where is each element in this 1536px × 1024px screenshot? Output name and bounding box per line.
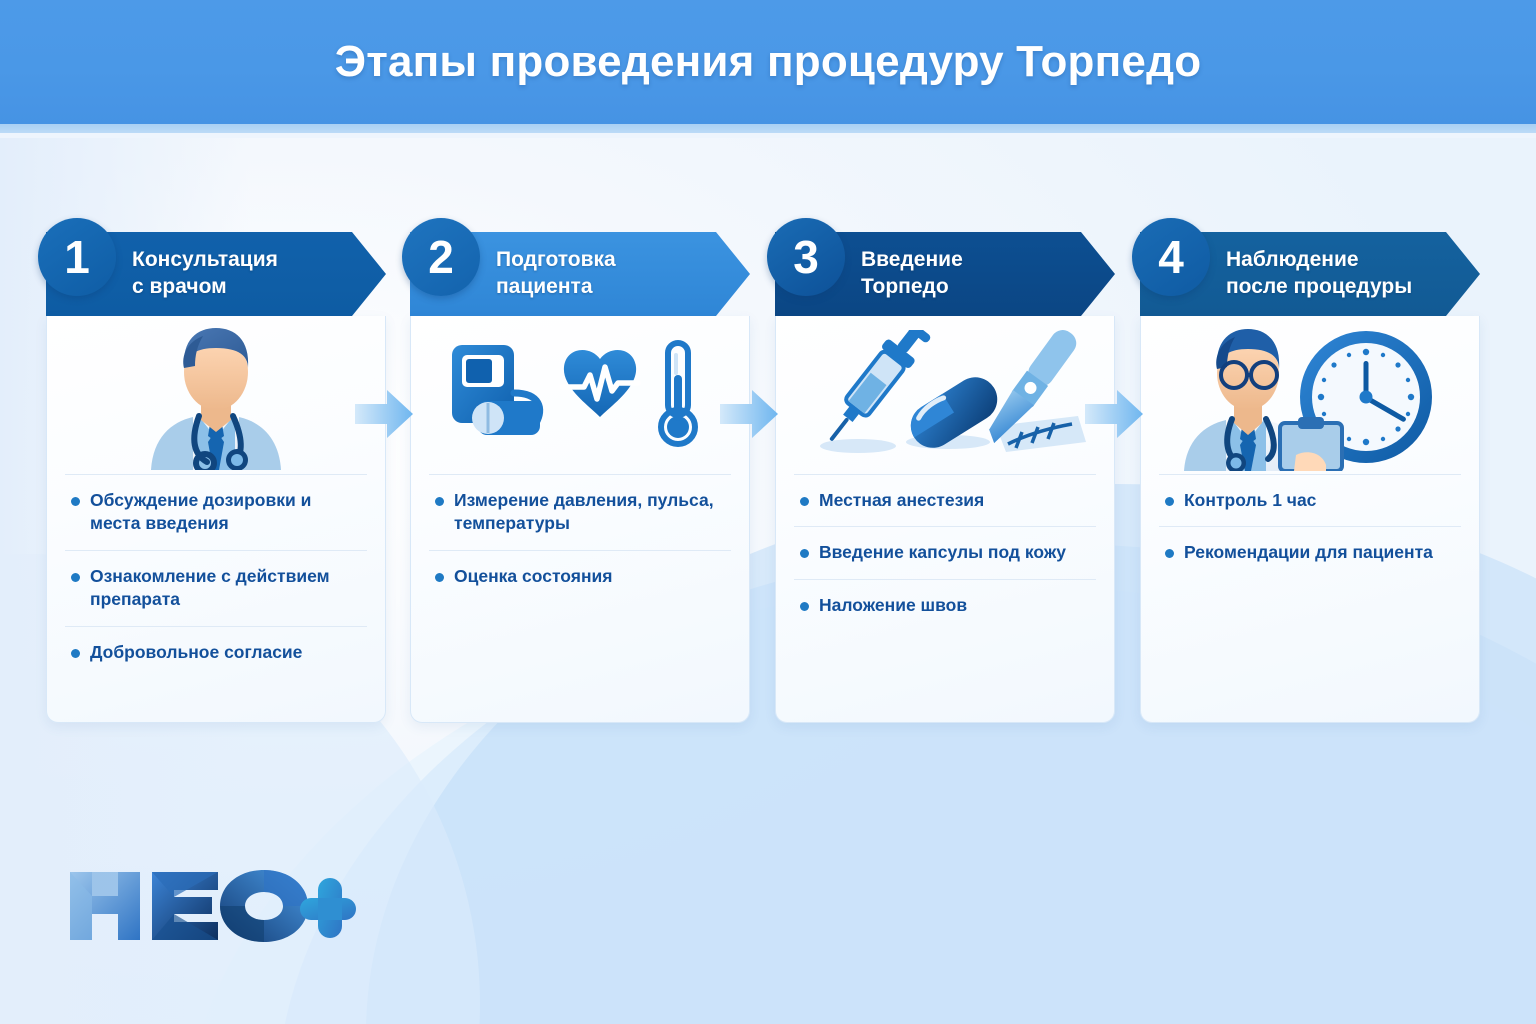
step-3-bullets: Местная анестезия Введение капсулы под к… bbox=[776, 474, 1114, 649]
step-4-title: Наблюдение после процедуры bbox=[1226, 247, 1412, 301]
bullet-text: Рекомендации для пациента bbox=[1184, 541, 1433, 564]
bullet-text: Местная анестезия bbox=[819, 489, 984, 512]
step-4-bullets: Контроль 1 час Рекомендации для пациента bbox=[1141, 474, 1479, 597]
bullet-text: Наложение швов bbox=[819, 594, 967, 617]
step-3-number-badge: 3 bbox=[767, 218, 845, 296]
vitals-icons bbox=[411, 316, 749, 474]
list-item: Рекомендации для пациента bbox=[1159, 526, 1461, 578]
arrow-right-icon bbox=[355, 390, 413, 438]
step-2-bullets: Измерение давления, пульса, температуры … bbox=[411, 474, 749, 620]
step-1-number-badge: 1 bbox=[38, 218, 116, 296]
bullet-text: Обсуждение дозировки и места введения bbox=[90, 489, 363, 536]
bullet-dot-icon bbox=[1165, 549, 1174, 558]
list-item: Контроль 1 час bbox=[1159, 474, 1461, 526]
bullet-dot-icon bbox=[800, 497, 809, 506]
infographic-stage: Этапы проведения процедуру Торпедо Консу… bbox=[0, 0, 1536, 1024]
bullet-text: Оценка состояния bbox=[454, 565, 613, 588]
bullet-text: Ознакомление с действием препарата bbox=[90, 565, 363, 612]
arrow-right-icon bbox=[720, 390, 778, 438]
bullet-dot-icon bbox=[800, 549, 809, 558]
procedure-icons bbox=[776, 316, 1114, 474]
neo-plus-logo bbox=[66, 866, 356, 946]
bullet-dot-icon bbox=[435, 497, 444, 506]
step-1-number: 1 bbox=[64, 230, 90, 284]
step-4-number: 4 bbox=[1158, 230, 1184, 284]
list-item: Измерение давления, пульса, температуры bbox=[429, 474, 731, 550]
bullet-dot-icon bbox=[435, 573, 444, 582]
step-3-title: Введение Торпедо bbox=[861, 247, 963, 301]
list-item: Местная анестезия bbox=[794, 474, 1096, 526]
bullet-dot-icon bbox=[1165, 497, 1174, 506]
header-accent-strip-secondary bbox=[0, 133, 1536, 138]
step-card-2[interactable]: Подготовка пациента 2 bbox=[410, 232, 750, 723]
step-card-4[interactable]: Наблюдение после процедуры 4 bbox=[1140, 232, 1480, 723]
step-1-body: Обсуждение дозировки и места введения Оз… bbox=[46, 316, 386, 723]
step-4-body: Контроль 1 час Рекомендации для пациента bbox=[1140, 316, 1480, 723]
list-item: Введение капсулы под кожу bbox=[794, 526, 1096, 578]
header-accent-strip bbox=[0, 124, 1536, 133]
bullet-dot-icon bbox=[71, 573, 80, 582]
list-item: Ознакомление с действием препарата bbox=[65, 550, 367, 626]
step-3-number: 3 bbox=[793, 230, 819, 284]
list-item: Оценка состояния bbox=[429, 550, 731, 602]
list-item: Обсуждение дозировки и места введения bbox=[65, 474, 367, 550]
arrow-right-icon bbox=[1085, 390, 1143, 438]
step-card-3[interactable]: Введение Торпедо 3 bbox=[775, 232, 1115, 723]
bullet-dot-icon bbox=[71, 649, 80, 658]
step-2-number-badge: 2 bbox=[402, 218, 480, 296]
doctor-icon bbox=[47, 316, 385, 474]
step-2-body: Измерение давления, пульса, температуры … bbox=[410, 316, 750, 723]
list-item: Добровольное согласие bbox=[65, 626, 367, 678]
page-header: Этапы проведения процедуру Торпедо bbox=[0, 0, 1536, 124]
step-1-title: Консультация с врачом bbox=[132, 247, 278, 301]
step-4-number-badge: 4 bbox=[1132, 218, 1210, 296]
page-title: Этапы проведения процедуру Торпедо bbox=[335, 37, 1202, 87]
step-3-body: Местная анестезия Введение капсулы под к… bbox=[775, 316, 1115, 723]
bullet-text: Введение капсулы под кожу bbox=[819, 541, 1066, 564]
bullet-dot-icon bbox=[71, 497, 80, 506]
bullet-dot-icon bbox=[800, 602, 809, 611]
doctor-clock-icon bbox=[1141, 316, 1479, 474]
step-2-number: 2 bbox=[428, 230, 454, 284]
bullet-text: Контроль 1 час bbox=[1184, 489, 1316, 512]
step-1-bullets: Обсуждение дозировки и места введения Оз… bbox=[47, 474, 385, 696]
step-2-title: Подготовка пациента bbox=[496, 247, 616, 301]
bullet-text: Измерение давления, пульса, температуры bbox=[454, 489, 727, 536]
list-item: Наложение швов bbox=[794, 579, 1096, 631]
step-card-1[interactable]: Консультация с врачом 1 bbox=[46, 232, 386, 723]
steps-container: Консультация с врачом 1 bbox=[0, 232, 1536, 752]
bullet-text: Добровольное согласие bbox=[90, 641, 302, 664]
